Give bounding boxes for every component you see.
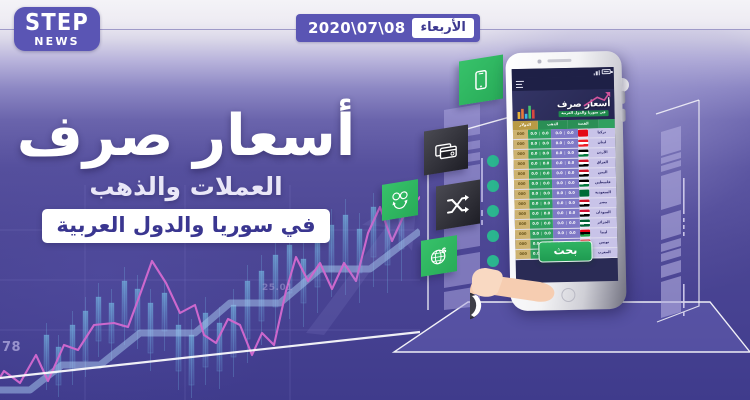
currency-price-cell: 000 bbox=[514, 180, 529, 189]
country-flag-cell bbox=[578, 129, 588, 138]
currency-exchange-icon bbox=[390, 188, 410, 211]
gold-price-cell: 0.0|0.0 bbox=[530, 229, 553, 238]
shuffle-exchange-icon bbox=[446, 191, 470, 219]
country-name-cell: مصر bbox=[590, 198, 617, 208]
country-name-cell: تركيا bbox=[588, 128, 615, 138]
country-flag-cell bbox=[579, 159, 589, 168]
globe-dollar-icon: $ bbox=[429, 244, 449, 267]
country-name-cell: اليمن bbox=[589, 168, 616, 178]
headline-block: أسعار صرف العملات والذهب في سوريا والدول… bbox=[0, 108, 372, 243]
country-flag-cell bbox=[580, 199, 590, 208]
silver-price-cell: 0.0|0.0 bbox=[552, 199, 580, 209]
page-title: أسعار صرف bbox=[0, 108, 372, 165]
country-flag-cell bbox=[579, 149, 589, 158]
bar-chart-icon bbox=[516, 103, 536, 119]
currency-price-cell: 000 bbox=[514, 190, 529, 199]
abstract-panel-stack-right bbox=[653, 98, 703, 328]
gold-price-cell: 0.0|0.0 bbox=[529, 149, 552, 158]
logo-text-news: NEWS bbox=[34, 36, 80, 47]
country-name-cell: لبنان bbox=[589, 138, 616, 148]
flag-icon bbox=[579, 170, 589, 177]
gold-price-cell: 0.0|0.0 bbox=[529, 159, 552, 168]
country-flag-cell bbox=[579, 179, 589, 188]
country-flag-cell bbox=[580, 218, 590, 227]
flag-icon bbox=[578, 130, 588, 137]
flag-icon bbox=[580, 210, 590, 217]
battery-icon bbox=[602, 69, 611, 74]
country-name-cell: السعودية bbox=[590, 188, 617, 198]
country-flag-cell bbox=[580, 228, 590, 237]
flag-icon bbox=[578, 140, 588, 147]
mobile-phone-icon bbox=[470, 67, 492, 92]
gold-price-cell: 0.0|0.0 bbox=[530, 199, 553, 208]
phone-camera bbox=[537, 59, 541, 63]
flag-icon bbox=[580, 200, 590, 207]
currency-price-cell: 000 bbox=[514, 170, 529, 179]
silver-price-cell: 0.0|0.0 bbox=[551, 129, 579, 139]
flag-icon bbox=[580, 229, 590, 236]
flag-icon bbox=[579, 190, 589, 197]
infographic-canvas: 78 25.01 STEP NEWS 2020\07\08 الأربعاء أ… bbox=[0, 0, 750, 400]
signal-icon bbox=[593, 69, 600, 75]
teal-dot bbox=[487, 155, 499, 167]
app-banner: أسعار صرف في سوريا والدول العربية bbox=[512, 89, 615, 121]
date-value: 2020\07\08 bbox=[308, 19, 405, 37]
silver-price-cell: 0.0|0.0 bbox=[552, 189, 580, 199]
app-banner-subtitle: في سوريا والدول العربية bbox=[558, 110, 609, 117]
teal-dot bbox=[487, 205, 499, 217]
country-flag-cell bbox=[579, 169, 589, 178]
region-pill: في سوريا والدول العربية bbox=[42, 209, 329, 243]
country-flag-cell bbox=[578, 139, 588, 148]
credit-card-tile[interactable] bbox=[424, 125, 468, 176]
country-name-cell: الجزائر bbox=[590, 218, 617, 228]
gold-price-cell: 0.0|0.0 bbox=[529, 179, 552, 188]
phone-screen: أسعار صرف في سوريا والدول العربية الفضة … bbox=[512, 67, 618, 283]
silver-price-cell: 0.0|0.0 bbox=[553, 219, 581, 229]
country-name-cell: فلسطين bbox=[589, 178, 616, 188]
country-flag-cell bbox=[580, 209, 590, 218]
teal-dot bbox=[487, 230, 499, 242]
pointing-hand-illustration bbox=[470, 262, 590, 322]
menu-icon[interactable] bbox=[516, 81, 524, 89]
gold-price-cell: 0.0|0.0 bbox=[530, 209, 553, 218]
teal-dot bbox=[487, 180, 499, 192]
phone-side-button[interactable] bbox=[621, 109, 626, 122]
silver-price-cell: 0.0|0.0 bbox=[551, 149, 579, 159]
phone-side-button[interactable] bbox=[620, 91, 625, 104]
country-flag-cell bbox=[579, 189, 589, 198]
chart-axis-label-2501: 25.01 bbox=[262, 283, 293, 293]
shuffle-exchange-tile[interactable] bbox=[436, 180, 480, 231]
search-button[interactable]: بحث bbox=[538, 240, 592, 262]
gold-price-cell: 0.0|0.0 bbox=[529, 169, 552, 178]
silver-price-cell: 0.0|0.0 bbox=[551, 159, 579, 169]
country-name-cell: ليبيا bbox=[590, 228, 617, 238]
logo-text-step: STEP bbox=[25, 10, 89, 34]
currency-price-cell: 000 bbox=[515, 230, 530, 239]
currency-price-cell: 000 bbox=[514, 160, 529, 169]
currency-price-cell: 000 bbox=[515, 220, 530, 229]
gold-price-cell: 0.0|0.0 bbox=[528, 139, 551, 148]
flag-icon bbox=[579, 150, 589, 157]
phone-speaker bbox=[547, 59, 571, 63]
currency-price-cell: 000 bbox=[513, 150, 528, 159]
globe-dollar-tile[interactable]: $ bbox=[421, 235, 457, 277]
flag-icon bbox=[579, 160, 589, 167]
svg-text:$: $ bbox=[442, 245, 447, 255]
gold-price-cell: 0.0|0.0 bbox=[530, 189, 553, 198]
silver-price-cell: 0.0|0.0 bbox=[552, 179, 580, 189]
credit-card-icon bbox=[434, 136, 458, 164]
silver-price-cell: 0.0|0.0 bbox=[552, 169, 580, 179]
silver-price-cell: 0.0|0.0 bbox=[551, 139, 579, 149]
flag-icon bbox=[580, 219, 590, 226]
step-news-logo[interactable]: STEP NEWS bbox=[14, 7, 100, 51]
currency-price-cell: 000 bbox=[513, 140, 528, 149]
page-subtitle: العملات والذهب bbox=[0, 174, 372, 199]
mobile-phone-tile[interactable] bbox=[459, 55, 503, 106]
silver-price-cell: 0.0|0.0 bbox=[552, 209, 580, 219]
flag-icon bbox=[579, 180, 589, 187]
date-bar: 2020\07\08 الأربعاء bbox=[296, 14, 480, 42]
country-name-cell: السودان bbox=[590, 208, 617, 218]
search-area: بحث bbox=[523, 240, 607, 263]
rising-arrow-icon bbox=[583, 91, 611, 108]
currency-price-cell: 000 bbox=[514, 200, 529, 209]
silver-price-cell: 0.0|0.0 bbox=[553, 229, 581, 239]
gold-price-cell: 0.0|0.0 bbox=[528, 129, 551, 138]
table-header-flag bbox=[598, 119, 614, 128]
weekday-badge: الأربعاء bbox=[412, 18, 473, 38]
currency-price-cell: 000 bbox=[513, 130, 528, 139]
currency-exchange-tile[interactable] bbox=[382, 179, 418, 221]
gold-price-cell: 0.0|0.0 bbox=[530, 219, 553, 228]
exchange-rate-table: الفضة الذهب الدولار تركيا0.0|0.00.0|0.00… bbox=[513, 119, 618, 260]
country-name-cell: العراق bbox=[589, 158, 616, 168]
country-name-cell: الأردن bbox=[589, 148, 616, 158]
ground-line-decoration bbox=[0, 330, 420, 380]
currency-price-cell: 000 bbox=[515, 210, 530, 219]
